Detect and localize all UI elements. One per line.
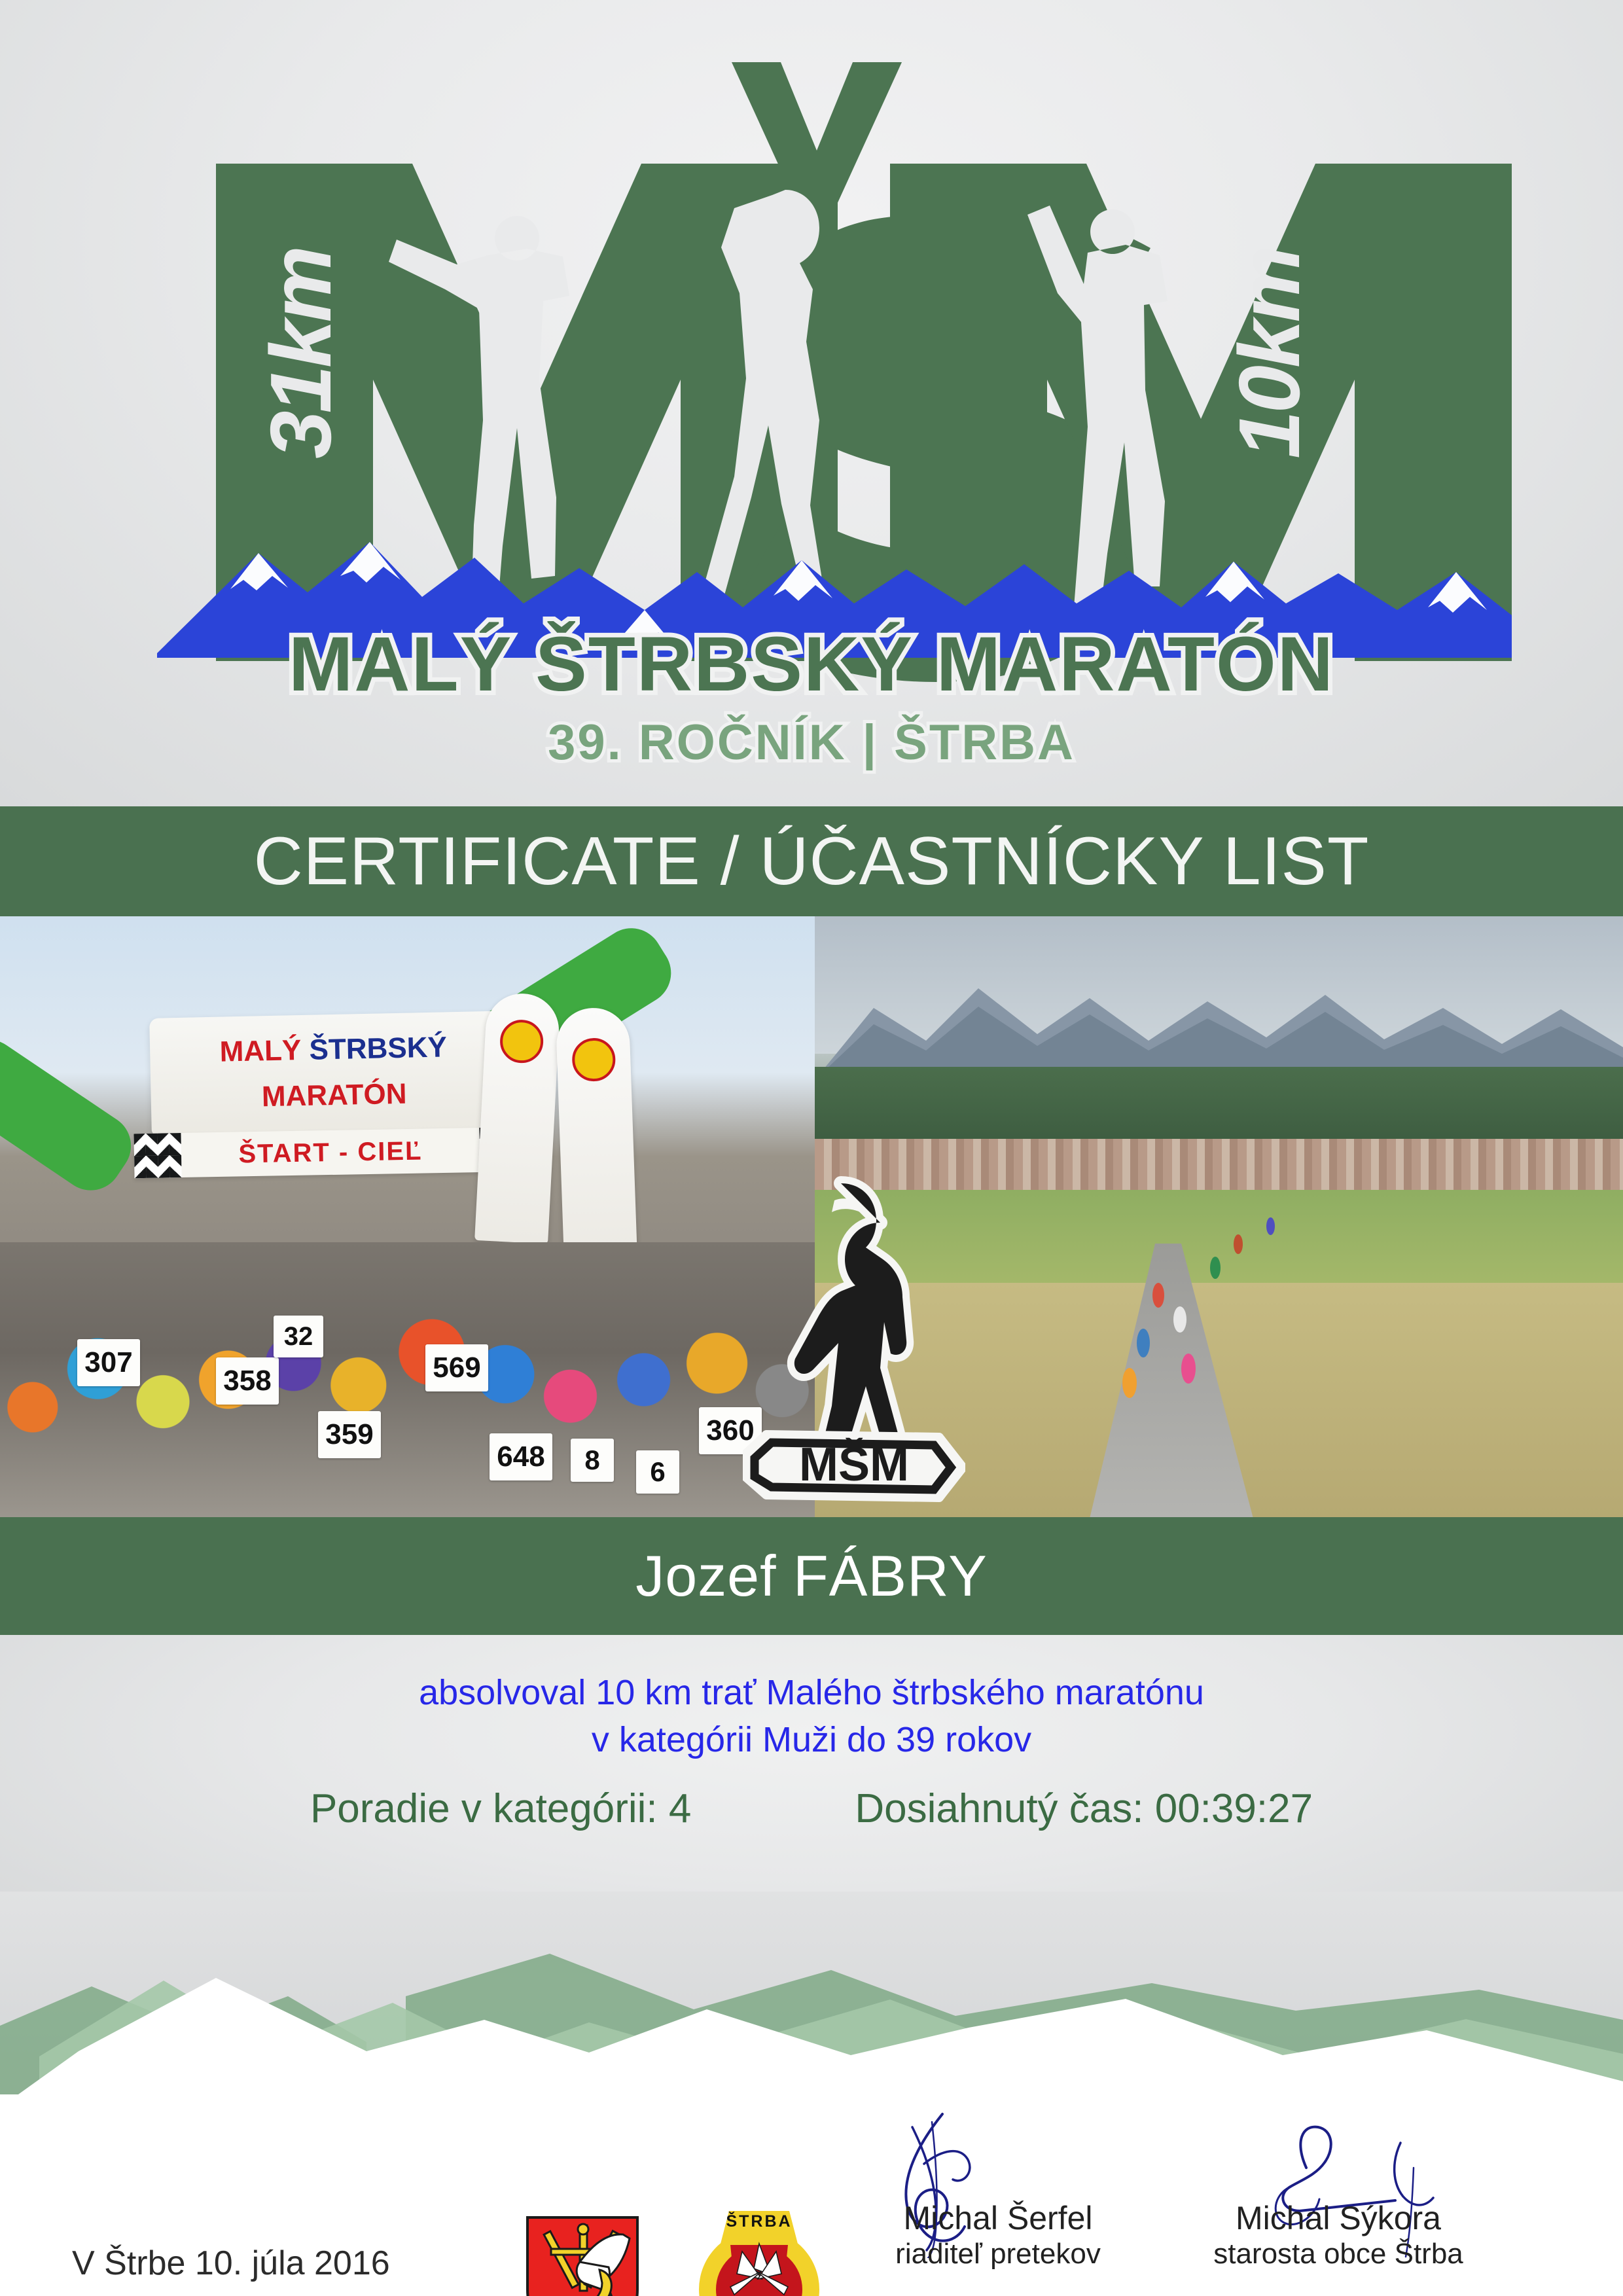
club-top-text: ŠTRBA	[726, 2211, 792, 2231]
bib-number: 359	[318, 1411, 381, 1458]
arch-word-maly: MALÝ	[219, 1034, 302, 1068]
category-rank: Poradie v kategórii: 4	[310, 1785, 691, 1832]
msm-banner-label: MŠM	[799, 1438, 909, 1491]
bib-number: 358	[216, 1357, 279, 1405]
course-runner	[1173, 1306, 1186, 1333]
sks-club-emblem: ŠTRBA 1947 ŠPORTOVÝ KLUB Š K Š	[694, 2206, 825, 2296]
certificate-page: 31km 10km MALÝ ŠTRBSKÝ MARATÓN 39	[0, 0, 1623, 2296]
msm-runner-emblem: MŠM	[743, 1172, 965, 1512]
start-finish-banner: ŠTART - CIEĽ	[134, 1127, 527, 1178]
signatory-role: starosta obce Štrba	[1185, 2237, 1492, 2270]
bib-number: 648	[490, 1433, 552, 1480]
course-runner	[1234, 1234, 1243, 1254]
feather-flag-1	[474, 992, 561, 1244]
bib-number: 6	[636, 1450, 679, 1494]
bib-number: 8	[571, 1439, 614, 1482]
runner-crowd: 307 358 32 359 569 648 8 6 360	[0, 1242, 815, 1517]
msm-banner: MŠM	[745, 1435, 963, 1498]
arch-word-strbsky: ŠTRBSKÝ	[309, 1031, 447, 1066]
svg-text:10km: 10km	[1221, 248, 1317, 459]
arch-leg-left	[0, 1028, 143, 1202]
distance-right-label: 10km	[1221, 248, 1317, 459]
start-finish-text: ŠTART - CIEĽ	[238, 1136, 423, 1169]
signatory-name: Michal Sýkora	[1185, 2199, 1492, 2237]
signature-block-mayor: Michal Sýkora starosta obce Štrba	[1185, 2199, 1492, 2270]
photo-race-start: MALÝ ŠTRBSKÝ MARATÓN ŠTART - CIEĽ 307 35…	[0, 916, 815, 1517]
achievement-description: absolvoval 10 km trať Malého štrbského m…	[0, 1669, 1623, 1764]
arch-word-maraton: MARATÓN	[151, 1077, 518, 1114]
participant-name-band: Jozef FÁBRY	[0, 1517, 1623, 1635]
checker-flag-left	[134, 1133, 181, 1178]
course-runner	[1266, 1217, 1275, 1235]
tatra-mountains	[815, 962, 1623, 1080]
feather-flag-2	[556, 1007, 637, 1251]
bib-number: 32	[274, 1316, 323, 1357]
decorative-mountains	[0, 1892, 1623, 2108]
course-runner	[1122, 1368, 1137, 1398]
course-runner	[1210, 1257, 1221, 1279]
signatory-name: Michal Šerfel	[844, 2199, 1152, 2237]
logo-header: 31km 10km MALÝ ŠTRBSKÝ MARATÓN 39	[0, 0, 1623, 806]
participant-name: Jozef FÁBRY	[635, 1547, 988, 1605]
obec-strba-coat-of-arms: Obec Štrba	[517, 2211, 648, 2296]
forest-belt	[815, 1067, 1623, 1145]
letter-m-right	[890, 164, 1512, 661]
certificate-title-band: CERTIFICATE / ÚČASTNÍCKY LIST	[0, 806, 1623, 916]
edition-line: 39. ROČNÍK | ŠTRBA	[548, 715, 1075, 771]
results-row: Poradie v kategórii: 4 Dosiahnutý čas: 0…	[0, 1785, 1623, 1832]
event-name: MALÝ ŠTRBSKÝ MARATÓN	[289, 620, 1334, 708]
place-and-date: V Štrbe 10. júla 2016	[72, 2244, 390, 2283]
signature-block-race-director: Michal Šerfel riaditeľ pretekov	[844, 2199, 1152, 2270]
course-runner	[1152, 1283, 1164, 1308]
certificate-title: CERTIFICATE / ÚČASTNÍCKY LIST	[254, 827, 1370, 895]
signatory-role: riaditeľ pretekov	[844, 2237, 1152, 2270]
description-line-1: absolvoval 10 km trať Malého štrbského m…	[0, 1669, 1623, 1716]
feather-flag-badge-2	[571, 1037, 616, 1082]
bib-number: 307	[77, 1339, 140, 1386]
certificate-footer: V Štrbe 10. júla 2016 Obec Štrba	[0, 2094, 1623, 2296]
course-runner	[1181, 1354, 1196, 1384]
svg-text:31km: 31km	[253, 248, 349, 459]
distance-left-label: 31km	[253, 248, 349, 459]
description-line-2: v kategórii Muži do 39 rokov	[0, 1716, 1623, 1763]
start-arch-banner: MALÝ ŠTRBSKÝ MARATÓN	[149, 1011, 518, 1136]
bib-number: 569	[425, 1344, 488, 1391]
finish-time: Dosiahnutý čas: 00:39:27	[855, 1785, 1313, 1832]
course-runner	[1137, 1329, 1150, 1357]
msm-logo-graphic: 31km 10km MALÝ ŠTRBSKÝ MARATÓN 39	[0, 0, 1623, 806]
feather-flag-badge-1	[499, 1018, 544, 1064]
